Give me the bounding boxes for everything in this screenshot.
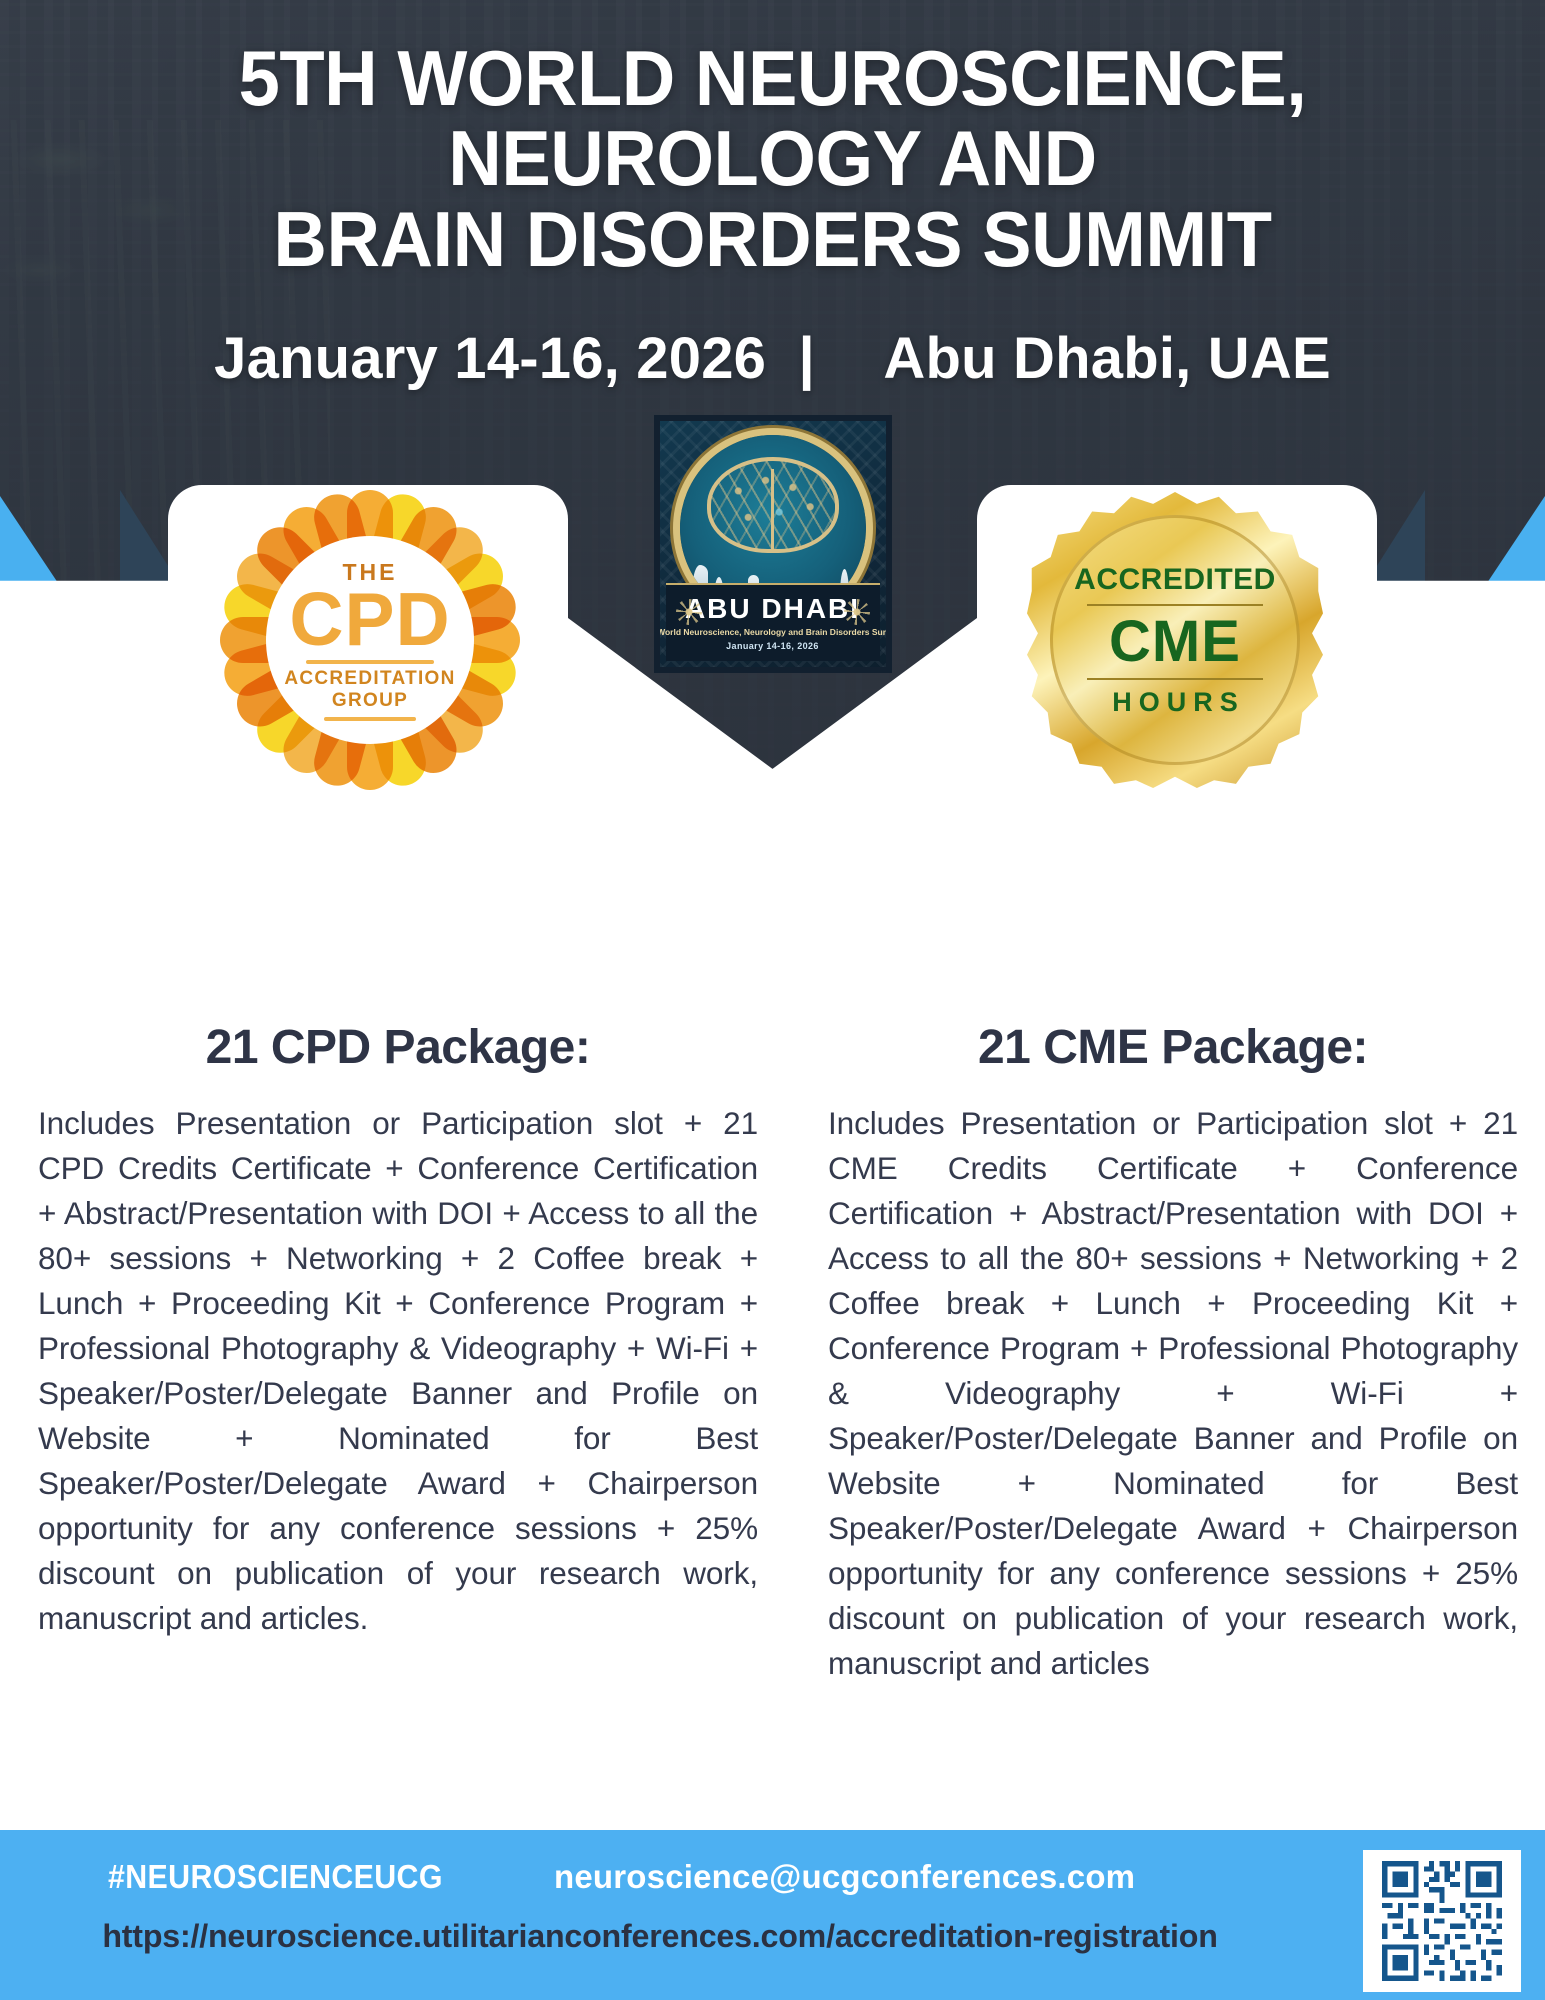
registration-url-link[interactable]: https://neuroscience.utilitarianconferen… bbox=[7, 1918, 1314, 1955]
abu-dhabi-title: ABU DHABI bbox=[685, 595, 860, 623]
abu-dhabi-logo-inner: ABU DHABI 5th World Neuroscience, Neurol… bbox=[660, 421, 886, 667]
cme-accredited-label: ACCREDITED bbox=[1074, 563, 1276, 597]
qr-code-icon bbox=[1369, 1856, 1515, 1986]
footer-contact-row: #NEUROSCIENCEUCG neuroscience@ucgconfere… bbox=[0, 1846, 1340, 1908]
cpd-rosette-icon: THE CPD ACCREDITATION GROUP bbox=[220, 490, 520, 790]
cme-package-title: 21 CME Package: bbox=[828, 1020, 1518, 1075]
cpd-package-column: 21 CPD Package: Includes Presentation or… bbox=[38, 1020, 758, 1641]
cme-divider-bottom bbox=[1087, 678, 1263, 680]
ornament-flower-right-icon bbox=[844, 599, 870, 625]
cme-acronym: CME bbox=[1109, 613, 1241, 671]
cme-package-column: 21 CME Package: Includes Presentation or… bbox=[828, 1020, 1518, 1686]
cpd-divider-top bbox=[306, 660, 434, 664]
cpd-divider-bottom bbox=[324, 717, 416, 721]
footer-bar: #NEUROSCIENCEUCG neuroscience@ucgconfere… bbox=[0, 1830, 1545, 2000]
cme-accredited-logo: ACCREDITED CME HOURS bbox=[965, 480, 1385, 800]
cpd-package-description: Includes Presentation or Participation s… bbox=[38, 1101, 758, 1641]
cme-divider-top bbox=[1087, 604, 1263, 606]
cpd-accreditation-logo: THE CPD ACCREDITATION GROUP bbox=[160, 480, 580, 800]
cme-inner-disc: ACCREDITED CME HOURS bbox=[1050, 515, 1300, 765]
title-line-2: NEUROLOGY AND bbox=[39, 118, 1507, 198]
title-line-3: BRAIN DISORDERS SUMMIT bbox=[39, 199, 1507, 279]
circuit-brain-icon bbox=[707, 457, 839, 553]
email-link[interactable]: neuroscience@ucgconferences.com bbox=[554, 1858, 1135, 1896]
ornament-flower-left-icon bbox=[676, 599, 702, 625]
event-location: Abu Dhabi, UAE bbox=[883, 326, 1330, 391]
event-meta: January 14-16, 2026 | Abu Dhabi, UAE bbox=[0, 325, 1545, 392]
cpd-package-title: 21 CPD Package: bbox=[38, 1020, 758, 1075]
cme-package-description: Includes Presentation or Participation s… bbox=[828, 1101, 1518, 1686]
cme-seal-icon: ACCREDITED CME HOURS bbox=[1027, 492, 1323, 788]
meta-separator: | bbox=[782, 325, 830, 392]
abu-dhabi-subtitle: 5th World Neuroscience, Neurology and Br… bbox=[660, 627, 886, 637]
cpd-accreditation-label: ACCREDITATION bbox=[284, 668, 455, 690]
cpd-acronym: CPD bbox=[289, 584, 450, 655]
cpd-group-label: GROUP bbox=[332, 690, 408, 712]
title-line-1: 5TH WORLD NEUROSCIENCE, bbox=[39, 38, 1507, 118]
qr-code[interactable] bbox=[1363, 1850, 1521, 1992]
event-date: January 14-16, 2026 bbox=[214, 326, 766, 391]
cme-hours-label: HOURS bbox=[1112, 687, 1245, 718]
abu-dhabi-date: January 14-16, 2026 bbox=[726, 641, 819, 651]
cpd-core: THE CPD ACCREDITATION GROUP bbox=[266, 536, 474, 744]
page-title: 5TH WORLD NEUROSCIENCE, NEUROLOGY AND BR… bbox=[39, 38, 1507, 279]
badges-row: THE CPD ACCREDITATION GROUP ACCREDITED C… bbox=[0, 455, 1545, 835]
hashtag-label: #NEUROSCIENCEUCG bbox=[108, 1858, 443, 1896]
abu-dhabi-summit-logo: ABU DHABI 5th World Neuroscience, Neurol… bbox=[654, 415, 892, 673]
abu-dhabi-caption-band: ABU DHABI 5th World Neuroscience, Neurol… bbox=[666, 583, 880, 661]
